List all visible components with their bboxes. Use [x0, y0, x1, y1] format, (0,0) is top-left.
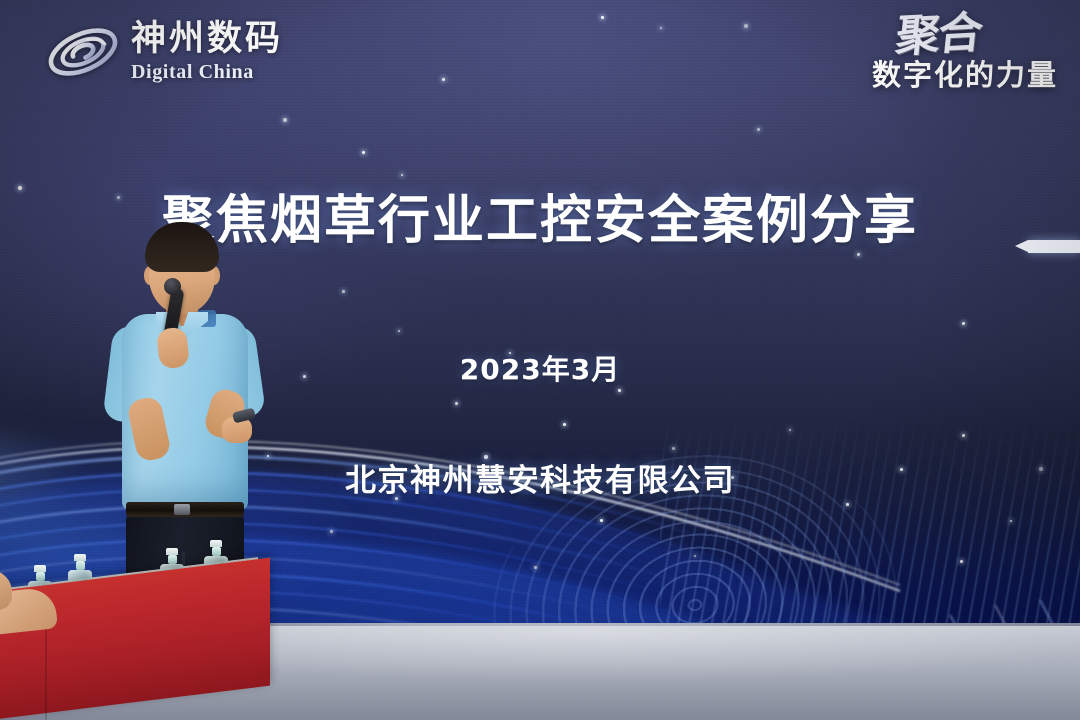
- brand-calligraphy: 聚合: [869, 13, 982, 59]
- logo-chinese-name: 神州数码: [131, 22, 283, 57]
- decorative-arrow-bar: [1028, 240, 1080, 253]
- event-brand-lockup: 聚合 数字化的力量: [872, 16, 1058, 94]
- logo-english-name: Digital China: [131, 62, 283, 82]
- digital-china-logo: 神州数码 Digital China: [44, 21, 283, 83]
- speaker-hand-left: [156, 327, 190, 370]
- conference-photo-scene: 神州数码 Digital China 聚合 数字化的力量 聚焦烟草行业工控安全案…: [0, 0, 1080, 720]
- foreground-table: [0, 550, 280, 720]
- spiral-swirl-icon: [44, 21, 122, 83]
- speaker-hair: [145, 222, 219, 272]
- speaker-belt-buckle: [174, 504, 190, 515]
